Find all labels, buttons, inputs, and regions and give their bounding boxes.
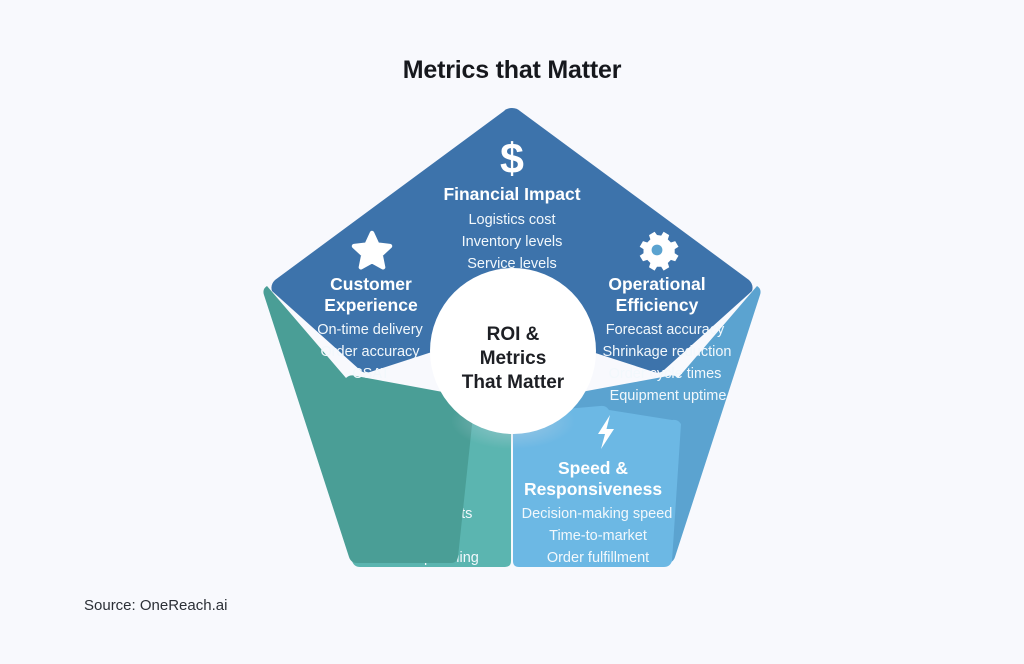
center-hub[interactable]: ROI & Metrics That Matter (430, 268, 596, 449)
segment-customer-experience-title-0: Customer (330, 274, 412, 294)
pentagon-wheel-diagram: $ Financial Impact Logistics cost Invent… (0, 96, 1024, 588)
segment-speed-responsiveness-item-2: Order fulfillment (547, 550, 649, 566)
segment-speed-responsiveness-item-0: Decision-making speed (522, 506, 673, 522)
segment-operational-efficiency-item-1: Shrinkage reduction (603, 344, 732, 360)
hub-line-0: ROI & (487, 324, 540, 345)
dollar-icon: $ (500, 135, 524, 183)
svg-text:$: $ (500, 135, 524, 183)
segment-speed-responsiveness-title-0: Speed & (558, 458, 628, 478)
segment-operational-efficiency-item-2: Order cycle times (609, 366, 722, 382)
segment-operational-efficiency-title-1: Efficiency (616, 295, 699, 315)
segment-financial-impact-item-1: Inventory levels (462, 234, 563, 250)
segment-operational-efficiency-title-0: Operational (608, 274, 705, 294)
page-title: Metrics that Matter (0, 56, 1024, 85)
segment-customer-experience-item-2: CSAT (352, 366, 390, 382)
segment-operational-efficiency-item-0: Forecast accuracy (606, 322, 725, 338)
segment-financial-impact-item-0: Logistics cost (468, 212, 555, 228)
segment-financial-impact-title-0: Financial Impact (443, 184, 580, 204)
wheel-svg: $ Financial Impact Logistics cost Invent… (0, 96, 1024, 588)
segment-speed-responsiveness-item-1: Time-to-market (549, 528, 647, 544)
segment-customer-experience-item-0: On-time delivery (317, 322, 423, 338)
hub-line-2: That Matter (462, 372, 565, 393)
source-note: Source: OneReach.ai (84, 597, 227, 614)
segment-customer-experience-item-1: Order accuracy (320, 344, 420, 360)
hub-line-1: Metrics (480, 348, 547, 369)
segment-operational-efficiency-item-3: Equipment uptime (610, 388, 727, 404)
segment-speed-responsiveness-title-1: Responsiveness (524, 479, 662, 499)
segment-customer-experience-title-1: Experience (324, 295, 418, 315)
